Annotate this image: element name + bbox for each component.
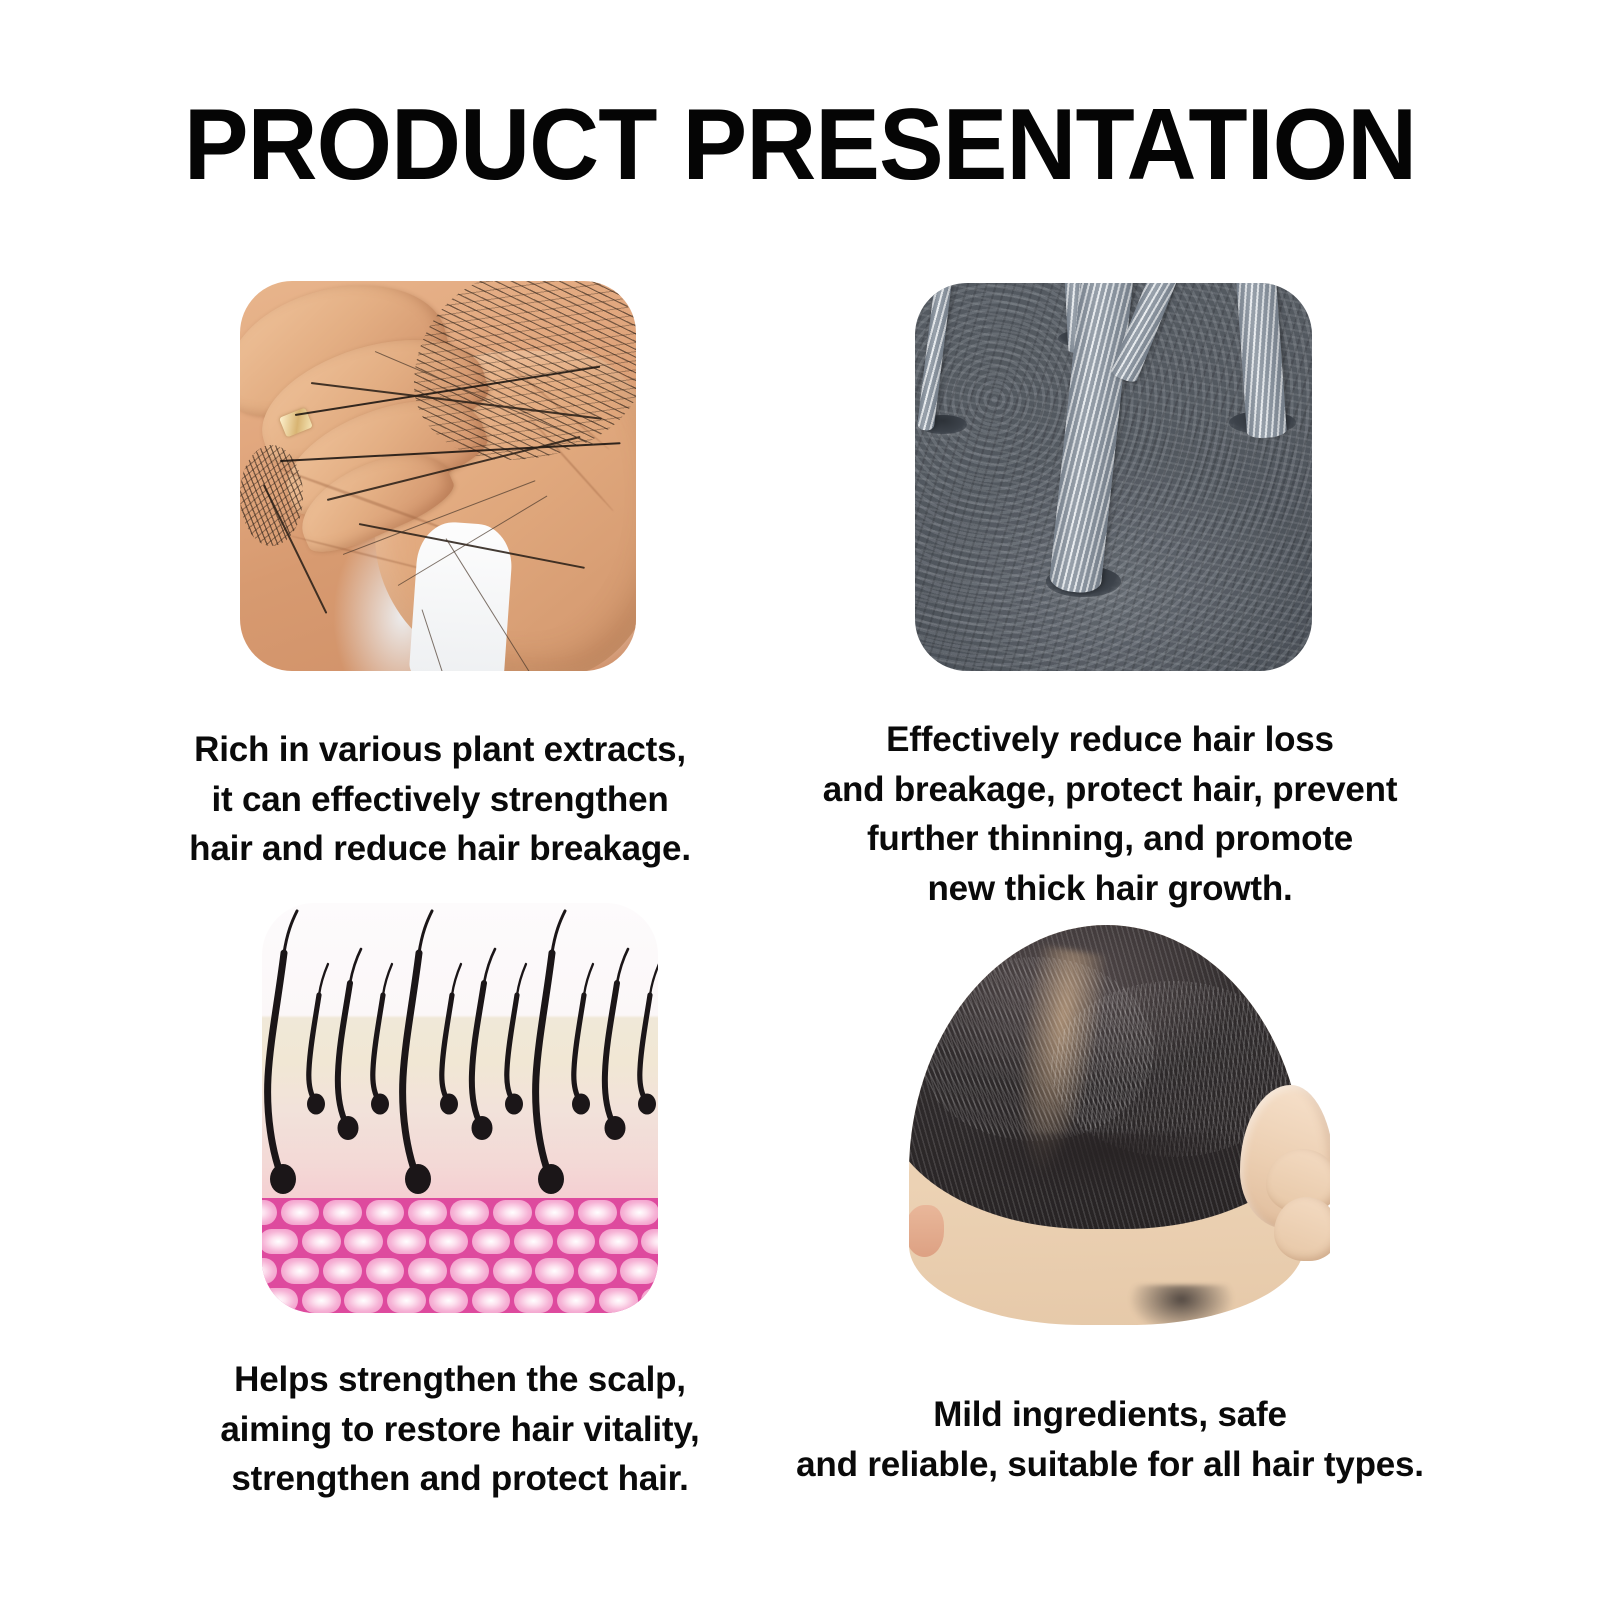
caption-line: Helps strengthen the scalp, — [170, 1355, 750, 1405]
hand-finger — [1274, 1197, 1330, 1261]
man-scalp-thinning-hair-photo — [900, 925, 1330, 1325]
caption-line: Rich in various plant extracts, — [150, 725, 730, 775]
cell-row — [262, 1286, 658, 1313]
receding-hairline — [948, 1133, 1280, 1229]
caption-line: and breakage, protect hair, prevent — [800, 765, 1420, 815]
feature-caption: Effectively reduce hair loss and breakag… — [800, 715, 1420, 914]
feature-caption: Helps strengthen the scalp, aiming to re… — [170, 1355, 750, 1504]
hair-follicle-cross-section-diagram — [262, 903, 658, 1313]
feature-caption: Rich in various plant extracts, it can e… — [150, 725, 730, 874]
beard-shadow — [1130, 1285, 1233, 1325]
ear — [909, 1205, 945, 1257]
caption-line: aiming to restore hair vitality, — [170, 1405, 750, 1455]
caption-line: it can effectively strengthen — [150, 775, 730, 825]
cell-row — [262, 1257, 658, 1286]
caption-line: and reliable, suitable for all hair type… — [780, 1440, 1440, 1490]
cell-row — [262, 1198, 658, 1227]
hand-holding-fallen-hair-photo — [240, 281, 636, 671]
microscope-hair-follicle-photo — [915, 283, 1312, 671]
head-shape — [909, 925, 1305, 1325]
caption-line: Effectively reduce hair loss — [800, 715, 1420, 765]
caption-line: new thick hair growth. — [800, 864, 1420, 914]
page-title: PRODUCT PRESENTATION — [32, 95, 1568, 196]
caption-line: further thinning, and promote — [800, 814, 1420, 864]
cell-layer — [262, 1198, 658, 1313]
caption-line: Mild ingredients, safe — [780, 1390, 1440, 1440]
cell-row — [262, 1227, 658, 1256]
caption-line: hair and reduce hair breakage. — [150, 824, 730, 874]
caption-line: strengthen and protect hair. — [170, 1454, 750, 1504]
feature-caption: Mild ingredients, safe and reliable, sui… — [780, 1390, 1440, 1489]
